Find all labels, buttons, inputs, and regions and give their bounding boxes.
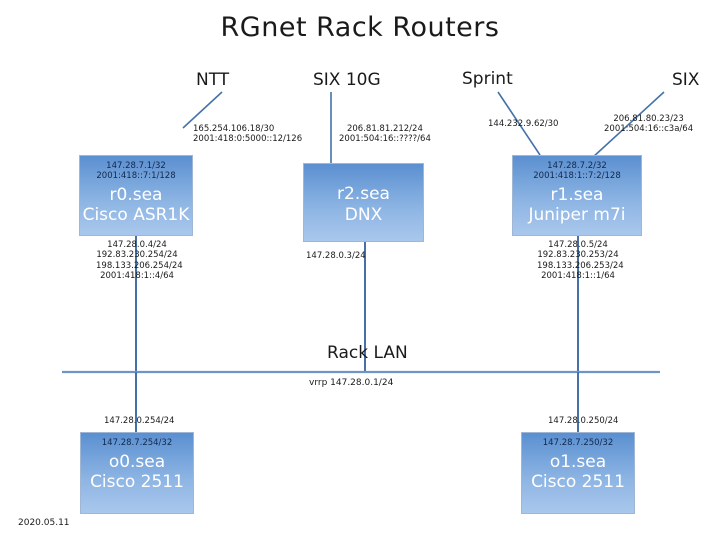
router-r1-lan-addresses: 147.28.0.5/24 192.83.230.253/24 198.133.… [537,240,619,281]
router-r1-lan-addr-1: 192.83.230.253/24 [537,250,619,260]
router-r0-lan-addresses: 147.28.0.4/24 192.83.230.254/24 198.133.… [96,240,178,281]
console-o1-model: Cisco 2511 [522,472,634,492]
link-ntt-r0 [183,92,222,128]
router-node-r1[interactable]: 147.28.7.2/32 2001:418:1::7:2/128 r1.sea… [512,155,642,236]
uplink-six-addr-v6: 2001:504:16::c3a/64 [604,124,693,134]
uplink-label-six: SIX [672,70,699,90]
console-o0-name: o0.sea [81,452,193,472]
router-r1-model: Juniper m7i [513,205,641,225]
console-node-o1[interactable]: 147.28.7.250/32 o1.sea Cisco 2511 [521,432,635,514]
console-o0-lan-address: 147.28.0.254/24 [104,416,174,426]
uplink-addresses-six: 206.81.80.23/23 2001:504:16::c3a/64 [604,114,693,135]
uplink-addresses-ntt: 165.254.106.18/30 2001:418:0:5000::12/12… [193,124,302,145]
uplink-ntt-addr-v4: 165.254.106.18/30 [193,124,302,134]
uplink-ntt-addr-v6: 2001:418:0:5000::12/126 [193,134,302,144]
router-r1-loopback-v6: 2001:418:1::7:2/128 [513,171,641,181]
console-o1-loopbacks: 147.28.7.250/32 [522,433,634,448]
router-r1-loopbacks: 147.28.7.2/32 2001:418:1::7:2/128 [513,156,641,181]
router-r0-name: r0.sea [80,185,192,205]
router-r0-loopbacks: 147.28.7.1/32 2001:418::7:1/128 [80,156,192,181]
router-r0-lan-addr-1: 192.83.230.254/24 [96,250,178,260]
uplink-label-ntt: NTT [196,70,229,90]
router-r1-lan-addr-0: 147.28.0.5/24 [537,240,619,250]
uplink-addresses-six10g: 206.81.81.212/24 2001:504:16::????/64 [339,124,431,145]
uplink-addresses-sprint: 144.232.9.62/30 [488,119,558,129]
router-r2-lan-addr-0: 147.28.0.3/24 [306,251,366,261]
console-o0-loopback-v4: 147.28.7.254/32 [81,438,193,448]
router-r2-model: DNX [345,205,382,225]
page-title: RGnet Rack Routers [0,12,720,43]
diagram-canvas: RGnet Rack Routers NTT SIX 10G Sprint SI… [0,0,720,540]
router-r0-lan-addr-0: 147.28.0.4/24 [96,240,178,250]
router-node-r2[interactable]: r2.sea DNX [303,163,424,242]
rack-lan-label: Rack LAN [327,343,408,363]
uplink-six-addr-v4: 206.81.80.23/23 [604,114,693,124]
console-o1-loopback-v4: 147.28.7.250/32 [522,438,634,448]
console-o0-model: Cisco 2511 [81,472,193,492]
router-r1-name: r1.sea [513,185,641,205]
router-r0-loopback-v6: 2001:418::7:1/128 [80,171,192,181]
uplink-six10g-addr-v6: 2001:504:16::????/64 [339,134,431,144]
router-r1-lan-addr-3: 2001:418:1::1/64 [537,271,619,281]
console-o0-loopbacks: 147.28.7.254/32 [81,433,193,448]
router-r2-name: r2.sea [337,184,390,204]
router-r0-model: Cisco ASR1K [80,205,192,225]
router-r1-lan-addr-2: 198.133.206.253/24 [537,261,619,271]
router-node-r0[interactable]: 147.28.7.1/32 2001:418::7:1/128 r0.sea C… [79,155,193,236]
uplink-sprint-addr-v4: 144.232.9.62/30 [488,119,558,129]
router-r0-lan-addr-2: 198.133.206.254/24 [96,261,178,271]
date-stamp: 2020.05.11 [18,518,70,528]
uplink-six10g-addr-v4: 206.81.81.212/24 [339,124,431,134]
uplink-label-sprint: Sprint [462,69,513,89]
uplink-label-six10g: SIX 10G [313,70,381,90]
router-r1-loopback-v4: 147.28.7.2/32 [513,161,641,171]
console-node-o0[interactable]: 147.28.7.254/32 o0.sea Cisco 2511 [80,432,194,514]
router-r2-lan-addresses: 147.28.0.3/24 [306,251,366,261]
router-r0-loopback-v4: 147.28.7.1/32 [80,161,192,171]
console-o1-lan-address: 147.28.0.250/24 [548,416,618,426]
console-o1-name: o1.sea [522,452,634,472]
rack-lan-vrrp-label: vrrp 147.28.0.1/24 [309,378,393,388]
router-r0-lan-addr-3: 2001:418:1::4/64 [96,271,178,281]
